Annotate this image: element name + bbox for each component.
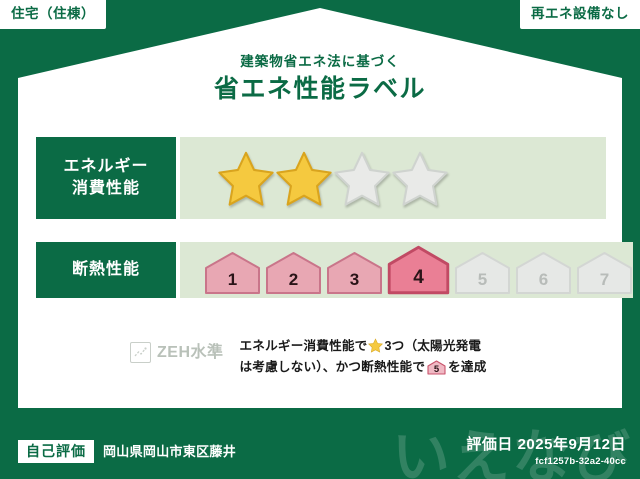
zeh-standard-label: ZEH水準 — [157, 345, 224, 361]
energy-performance-label: いえなび 住宅（住棟） 再エネ設備なし 建築物省エネ法に基づく 省エネ性能ラベル… — [0, 0, 640, 479]
energy-label-line2: 消費性能 — [72, 178, 140, 200]
grade-value: 1 — [228, 271, 237, 295]
star-empty-icon — [392, 150, 448, 206]
grade-value: 3 — [350, 271, 359, 295]
title-block: 建築物省エネ法に基づく 省エネ性能ラベル — [0, 55, 640, 103]
chart-square-icon — [130, 342, 151, 363]
insulation-grade-6: 6 — [515, 251, 572, 295]
building-type-badge: 住宅（住棟） — [0, 0, 106, 29]
grade-value: 5 — [478, 271, 487, 295]
note-line2-prefix: は考慮しない）、かつ断熱性能で — [240, 360, 426, 374]
inline-grade-house-value: 5 — [427, 365, 446, 375]
insulation-performance-row-value: 1234567 — [180, 242, 633, 298]
insulation-performance-row-label: 断熱性能 — [36, 242, 176, 298]
footer-right: 評価日 2025年9月12日 fcf1257b-32a2-40cc — [466, 437, 626, 467]
inline-grade-house-icon: 5 — [427, 360, 446, 375]
insulation-grade-2: 2 — [265, 251, 322, 295]
insulation-grade-1: 1 — [204, 251, 261, 295]
insulation-grade-3: 3 — [326, 251, 383, 295]
achievement-note-line1: エネルギー消費性能で3つ（太陽光発電 — [240, 336, 487, 357]
evaluation-id: fcf1257b-32a2-40cc — [466, 457, 626, 467]
note-line1-prefix: エネルギー消費性能で — [240, 339, 368, 353]
evaluation-date-value: 2025年9月12日 — [518, 436, 626, 453]
insulation-performance-row: 断熱性能 1234567 — [36, 242, 606, 298]
footer-left: 自己評価 岡山県岡山市東区藤井 — [18, 440, 236, 463]
insulation-grade-4: 4 — [387, 245, 450, 295]
insulation-grade-scale: 1234567 — [204, 245, 633, 295]
achievement-note-text: エネルギー消費性能で3つ（太陽光発電 は考慮しない）、かつ断熱性能で5を達成 — [240, 336, 487, 378]
achievement-note-line2: は考慮しない）、かつ断熱性能で5を達成 — [240, 357, 487, 378]
evaluation-date: 評価日 2025年9月12日 — [466, 437, 626, 454]
energy-performance-row-value — [180, 137, 606, 219]
energy-label-line1: エネルギー — [63, 156, 148, 178]
note-line2-suffix: を達成 — [448, 360, 486, 374]
label-subtitle: 建築物省エネ法に基づく — [0, 55, 640, 70]
star-empty-icon — [334, 150, 390, 206]
renewable-equipment-badge: 再エネ設備なし — [520, 0, 640, 29]
energy-performance-row-label: エネルギー 消費性能 — [36, 137, 176, 219]
note-line1-suffix: 3つ（太陽光発電 — [384, 339, 481, 353]
grade-value: 2 — [289, 271, 298, 295]
insulation-grade-5: 5 — [454, 251, 511, 295]
page-title: 省エネ性能ラベル — [0, 76, 640, 104]
insulation-grade-7: 7 — [576, 251, 633, 295]
insulation-label-line1: 断熱性能 — [72, 259, 140, 281]
zeh-standard-badge: ZEH水準 — [130, 336, 224, 363]
energy-performance-row: エネルギー 消費性能 — [36, 137, 606, 219]
self-evaluation-badge: 自己評価 — [18, 440, 94, 463]
evaluation-date-label: 評価日 — [466, 436, 513, 453]
grade-value: 4 — [413, 268, 424, 295]
inline-star-icon — [368, 338, 383, 353]
grade-value: 6 — [539, 271, 548, 295]
grade-value: 7 — [600, 271, 609, 295]
property-address: 岡山県岡山市東区藤井 — [103, 445, 236, 458]
star-filled-icon — [218, 150, 274, 206]
zeh-note-block: ZEH水準 エネルギー消費性能で3つ（太陽光発電 は考慮しない）、かつ断熱性能で… — [130, 336, 550, 378]
star-rating — [218, 150, 448, 206]
star-filled-icon — [276, 150, 332, 206]
